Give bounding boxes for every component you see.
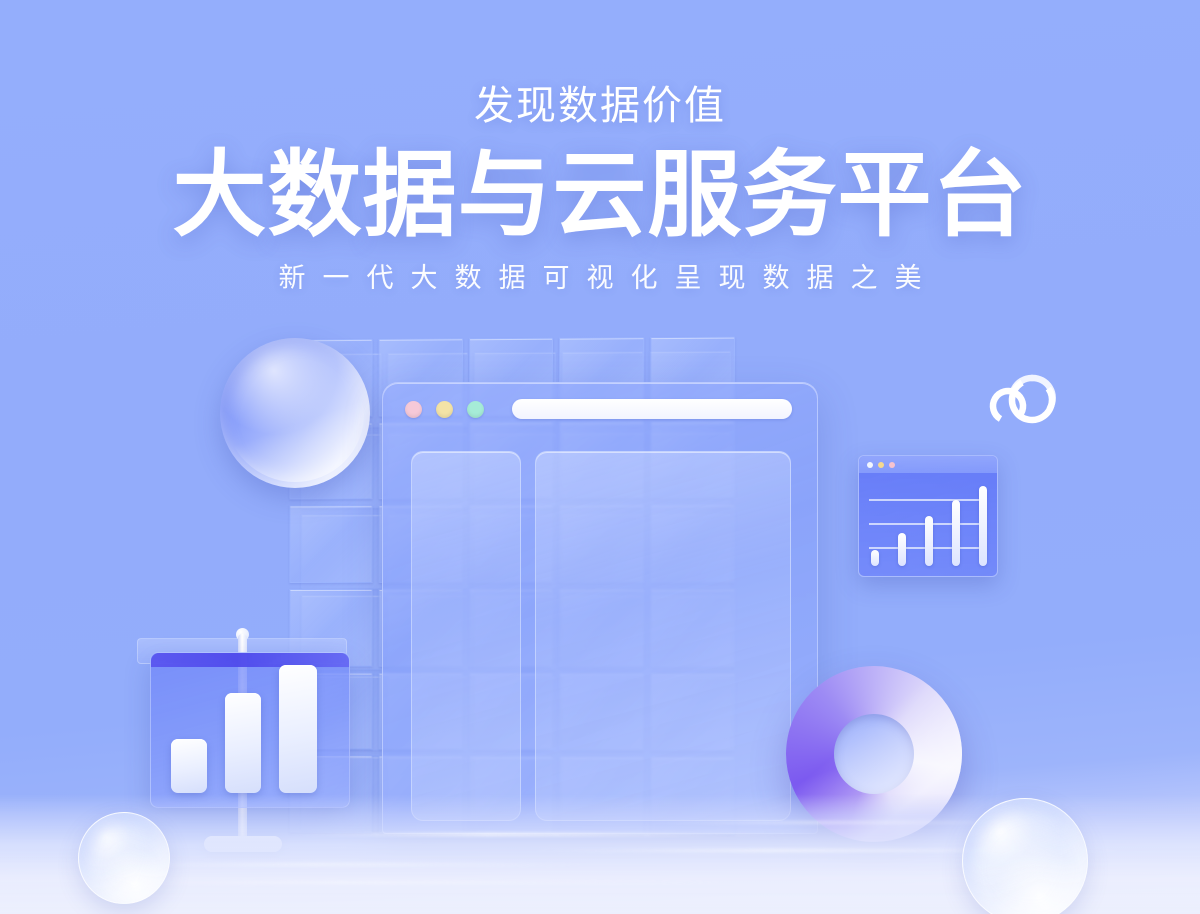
- page-title: 大数据与云服务平台: [0, 144, 1200, 246]
- hero-banner: 发现数据价值 大数据与云服务平台 新一代大数据可视化呈现数据之美: [0, 0, 1200, 914]
- green-dot-icon[interactable]: [467, 401, 484, 418]
- bar-panel-header: [151, 653, 349, 667]
- floor-streak: [280, 833, 800, 836]
- pink-dot-icon[interactable]: [889, 462, 895, 468]
- mini-chart-area: [859, 473, 997, 576]
- mini-window-title-bar: [859, 456, 997, 473]
- hero-subtitle: 发现数据价值: [0, 84, 1200, 128]
- glass-sphere-left: [78, 812, 170, 904]
- grid-cell: [289, 506, 373, 583]
- yellow-dot-icon[interactable]: [878, 462, 884, 468]
- bar: [898, 533, 906, 566]
- content-pane[interactable]: [535, 451, 791, 821]
- mini-bar-series: [871, 487, 987, 566]
- pink-dot-icon[interactable]: [405, 401, 422, 418]
- address-bar-input[interactable]: [512, 399, 792, 419]
- yellow-dot-icon[interactable]: [436, 401, 453, 418]
- bar: [952, 500, 960, 566]
- cloud-outline-icon: [978, 366, 1064, 438]
- bar: [925, 516, 933, 566]
- analytics-mini-window[interactable]: [858, 455, 998, 577]
- glass-sphere-right: [962, 798, 1088, 914]
- white-dot-icon[interactable]: [867, 462, 873, 468]
- glass-disc: [220, 338, 370, 488]
- hero-tagline: 新一代大数据可视化呈现数据之美: [0, 256, 1200, 295]
- bar: [871, 550, 879, 566]
- browser-title-bar: [383, 383, 817, 435]
- bar-series: [171, 679, 331, 793]
- bar: [979, 486, 987, 566]
- bar: [279, 665, 317, 793]
- sidebar-pane[interactable]: [411, 451, 521, 821]
- bar: [225, 693, 261, 793]
- bar-chart-panel[interactable]: [150, 652, 350, 808]
- bar: [171, 739, 207, 793]
- hero-text-block: 发现数据价值 大数据与云服务平台 新一代大数据可视化呈现数据之美: [0, 84, 1200, 295]
- main-browser-mockup[interactable]: [382, 382, 818, 834]
